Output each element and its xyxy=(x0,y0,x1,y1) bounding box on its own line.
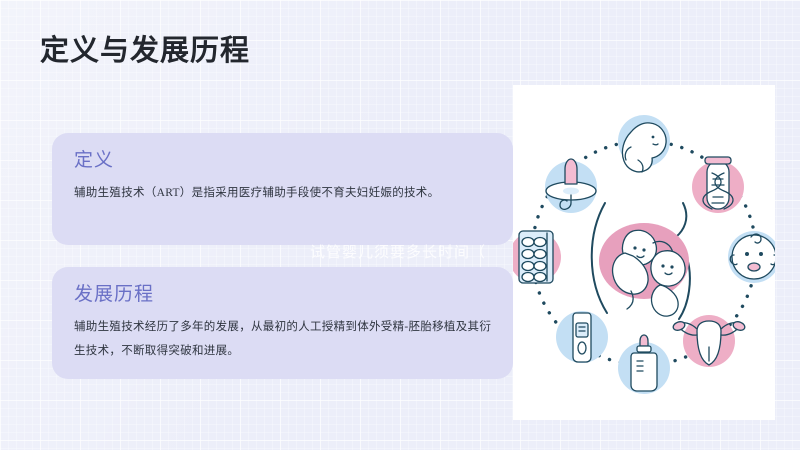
test-tube-dna-icon xyxy=(692,157,744,213)
card-definition-title: 定义 xyxy=(74,149,114,173)
card-definition: 定义 辅助生殖技术（ART）是指采用医疗辅助手段使不育夫妇妊娠的技术。 xyxy=(52,133,513,245)
pacifier-icon xyxy=(545,159,597,213)
card-history-body: 辅助生殖技术经历了多年的发展，从最初的人工授精到体外受精-胚胎移植及其衍生技术，… xyxy=(74,315,497,363)
baby-face-icon xyxy=(728,231,775,283)
illustration-panel: .ln { fill:none; stroke:#1f4a5f; stroke-… xyxy=(513,85,775,420)
baby-bottle-icon xyxy=(618,335,670,394)
fetus-icon xyxy=(618,115,670,172)
womb-twins-group xyxy=(592,203,690,319)
card-definition-body: 辅助生殖技术（ART）是指采用医疗辅助手段使不育夫妇妊娠的技术。 xyxy=(74,181,497,205)
pill-blister-icon xyxy=(513,231,561,283)
watermark-text: 试管婴儿须要多长时间（ xyxy=(310,243,486,263)
pregnancy-test-icon xyxy=(556,311,608,363)
fertility-illustration: .ln { fill:none; stroke:#1f4a5f; stroke-… xyxy=(513,85,775,420)
page-title: 定义与发展历程 xyxy=(40,33,250,69)
card-history: 发展历程 辅助生殖技术经历了多年的发展，从最初的人工授精到体外受精-胚胎移植及其… xyxy=(52,267,513,379)
uterus-icon xyxy=(672,315,746,367)
card-history-title: 发展历程 xyxy=(74,283,154,307)
slide-canvas: 定义与发展历程 定义 辅助生殖技术（ART）是指采用医疗辅助手段使不育夫妇妊娠的… xyxy=(0,0,800,450)
